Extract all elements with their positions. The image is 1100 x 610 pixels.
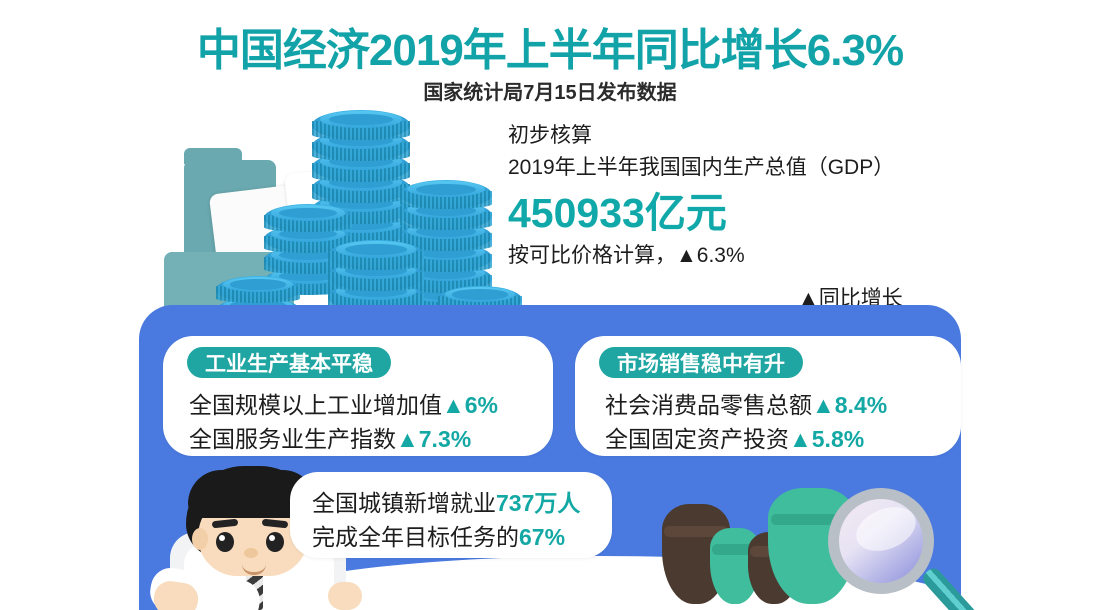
card-row-label: 社会消费品零售总额 — [605, 392, 812, 418]
card-row-value: ▲6% — [442, 392, 498, 418]
card-row-label: 全国服务业生产指数 — [189, 426, 396, 452]
card-industrial-production: 工业生产基本平稳 全国规模以上工业增加值▲6% 全国服务业生产指数▲7.3% — [163, 336, 553, 456]
coin-stack-illustration — [170, 100, 520, 340]
card-row: 社会消费品零售总额▲8.4% — [605, 386, 887, 420]
infographic-stage: 中国经济2019年上半年同比增长6.3% 国家统计局7月15日发布数据 — [0, 0, 1100, 610]
employment-row: 全国城镇新增就业737万人 — [312, 484, 580, 518]
card-row: 全国固定资产投资▲5.8% — [605, 420, 864, 454]
ear-shape — [192, 528, 208, 550]
card-title-pill: 市场销售稳中有升 — [599, 347, 803, 378]
card-row-value: ▲7.3% — [396, 426, 471, 452]
gdp-line-2: 2019年上半年我国国内生产总值（GDP） — [508, 152, 978, 184]
card-row-value: ▲5.8% — [789, 426, 864, 452]
page-title: 中国经济2019年上半年同比增长6.3% — [0, 14, 1100, 78]
card-employment: 全国城镇新增就业737万人 完成全年目标任务的67% — [290, 472, 612, 558]
employment-label: 全国城镇新增就业 — [312, 490, 496, 516]
card-row-label: 全国固定资产投资 — [605, 426, 789, 452]
eye-shape — [266, 532, 284, 552]
card-row: 全国规模以上工业增加值▲6% — [189, 386, 498, 420]
employment-value: 737万人 — [496, 490, 580, 516]
magnifier-icon — [828, 488, 934, 594]
page-subtitle: 国家统计局7月15日发布数据 — [0, 76, 1100, 105]
gdp-line-4: 按可比价格计算，▲6.3% — [508, 240, 978, 272]
card-row-value: ▲8.4% — [812, 392, 887, 418]
employment-value: 67% — [519, 524, 565, 550]
card-title-pill: 工业生产基本平稳 — [187, 347, 391, 378]
nose-shape — [244, 548, 258, 558]
gdp-value: 450933亿元 — [508, 186, 978, 240]
card-row-label: 全国规模以上工业增加值 — [189, 392, 442, 418]
employment-row: 完成全年目标任务的67% — [312, 518, 565, 552]
hand-shape — [328, 582, 362, 610]
magnifier-lens — [828, 488, 934, 594]
lens-gloss — [850, 499, 922, 559]
card-row: 全国服务业生产指数▲7.3% — [189, 420, 471, 454]
card-market-sales: 市场销售稳中有升 社会消费品零售总额▲8.4% 全国固定资产投资▲5.8% — [575, 336, 961, 456]
eye-shape — [216, 532, 234, 552]
money-bags-illustration — [640, 470, 970, 610]
employment-label: 完成全年目标任务的 — [312, 524, 519, 550]
gdp-line-1: 初步核算 — [508, 120, 978, 152]
gdp-summary: 初步核算 2019年上半年我国国内生产总值（GDP） 450933亿元 按可比价… — [508, 120, 978, 272]
